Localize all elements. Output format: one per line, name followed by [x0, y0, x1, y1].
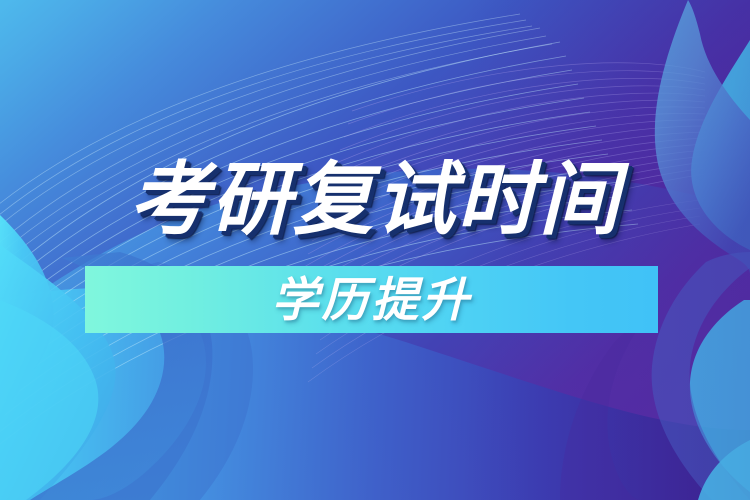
subtitle-label: 学历提升: [85, 266, 658, 333]
promo-banner: 考研复试时间 学历提升: [0, 0, 750, 500]
page-title: 考研复试时间: [0, 155, 750, 245]
banner-content: 考研复试时间 学历提升: [0, 0, 750, 500]
